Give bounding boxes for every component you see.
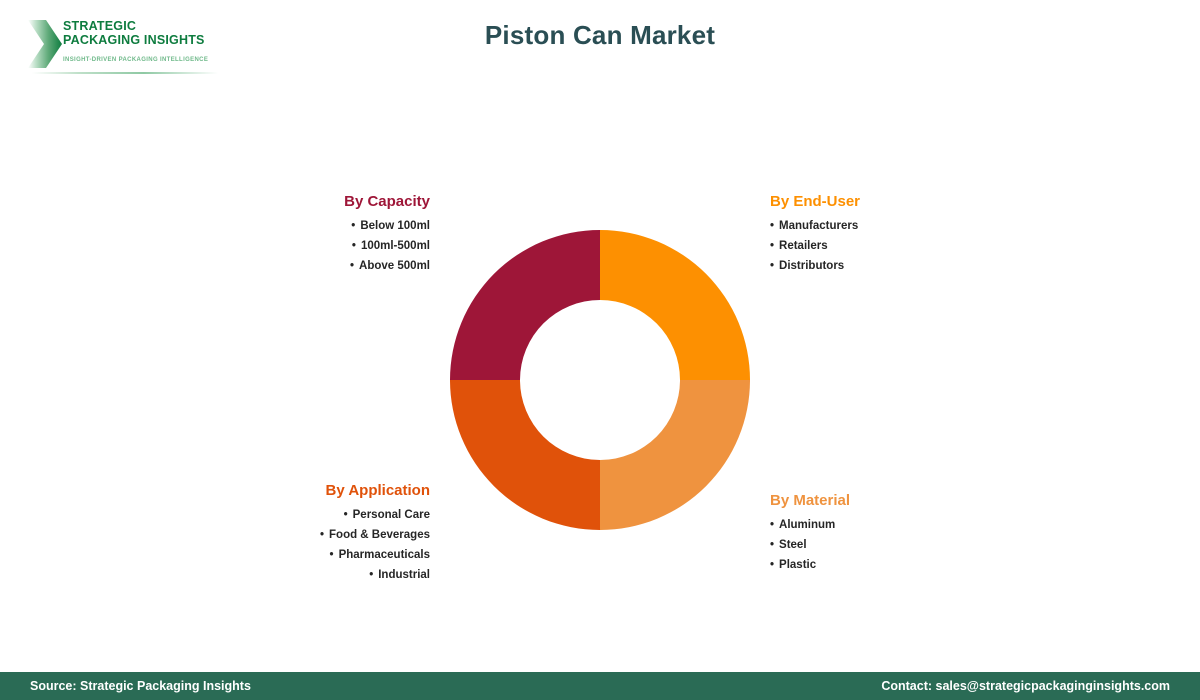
logo-divider: [32, 72, 218, 74]
list-item: Below 100ml: [230, 216, 430, 236]
footer-source: Source: Strategic Packaging Insights: [30, 679, 251, 693]
page-title: Piston Can Market: [0, 20, 1200, 51]
category-list-application: Personal Care Food & Beverages Pharmaceu…: [230, 505, 430, 585]
category-block-application: By Application Personal Care Food & Beve…: [230, 482, 430, 585]
donut-segment-material: [600, 380, 750, 530]
list-item: Personal Care: [230, 505, 430, 525]
category-list-material: Aluminum Steel Plastic: [770, 515, 1010, 575]
list-item: 100ml-500ml: [230, 236, 430, 256]
list-item: Steel: [770, 535, 1010, 555]
category-block-material: By Material Aluminum Steel Plastic: [770, 492, 1010, 575]
footer-bar: Source: Strategic Packaging Insights Con…: [0, 672, 1200, 700]
donut-segment-enduser: [600, 230, 750, 380]
list-item: Pharmaceuticals: [230, 545, 430, 565]
donut-segment-application: [450, 380, 600, 530]
category-title-capacity: By Capacity: [230, 193, 430, 210]
list-item: Industrial: [230, 565, 430, 585]
donut-segment-capacity: [450, 230, 600, 380]
list-item: Plastic: [770, 555, 1010, 575]
category-title-material: By Material: [770, 492, 1010, 509]
category-block-enduser: By End-User Manufacturers Retailers Dist…: [770, 193, 1010, 276]
list-item: Retailers: [770, 236, 1010, 256]
category-title-application: By Application: [230, 482, 430, 499]
list-item: Aluminum: [770, 515, 1010, 535]
list-item: Food & Beverages: [230, 525, 430, 545]
category-list-capacity: Below 100ml 100ml-500ml Above 500ml: [230, 216, 430, 276]
list-item: Distributors: [770, 256, 1010, 276]
category-block-capacity: By Capacity Below 100ml 100ml-500ml Abov…: [230, 193, 430, 276]
category-list-enduser: Manufacturers Retailers Distributors: [770, 216, 1010, 276]
category-title-enduser: By End-User: [770, 193, 1010, 210]
logo-tagline: INSIGHT-DRIVEN PACKAGING INTELLIGENCE: [63, 57, 223, 63]
footer-contact: Contact: sales@strategicpackaginginsight…: [881, 679, 1170, 693]
donut-chart: [450, 230, 750, 530]
list-item: Manufacturers: [770, 216, 1010, 236]
list-item: Above 500ml: [230, 256, 430, 276]
